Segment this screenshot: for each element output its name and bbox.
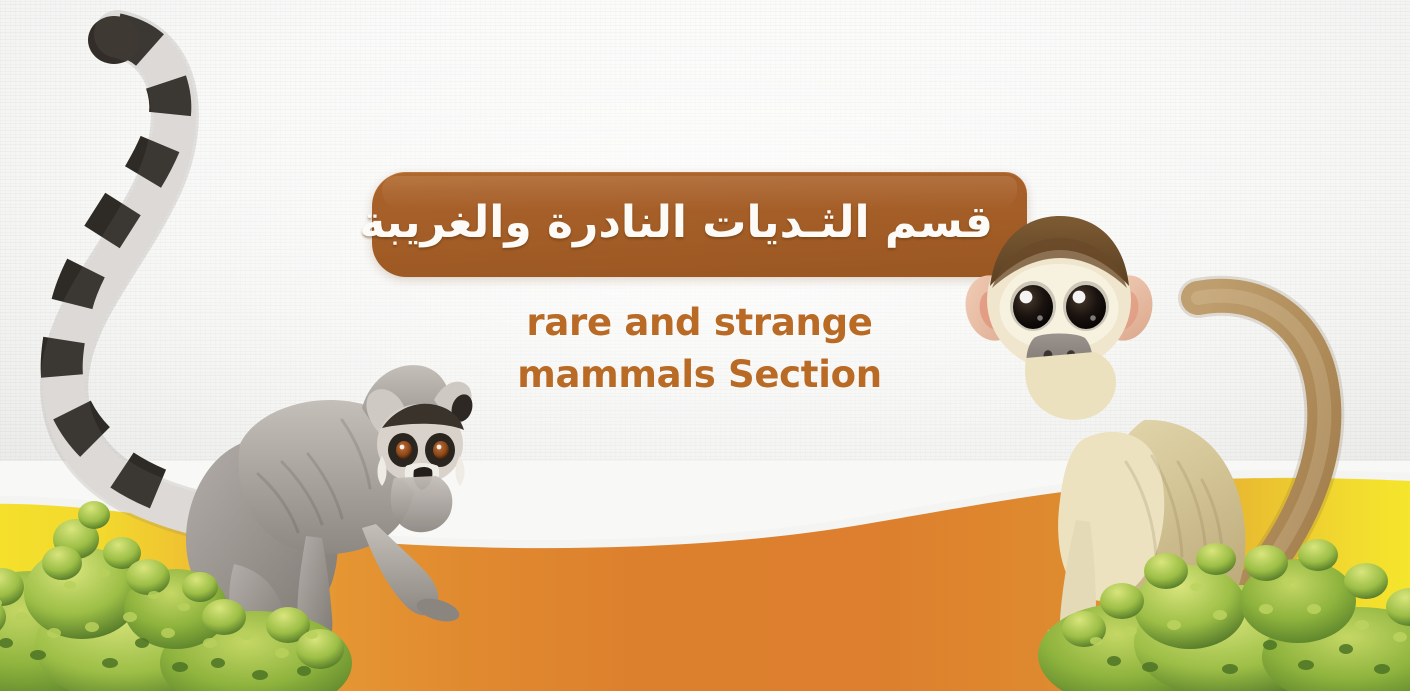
english-title: rare and strange mammals Section [372, 297, 1027, 401]
english-title-line-2: mammals Section [372, 349, 1027, 401]
english-title-line-1: rare and strange [372, 297, 1027, 349]
hero-banner: قسم الثـديات النادرة والغريبة rare and s… [0, 0, 1410, 691]
foliage-bush-left [0, 467, 350, 691]
foliage-bush-right [1070, 497, 1410, 691]
arabic-title: قسم الثـديات النادرة والغريبة [406, 188, 993, 258]
monkey-head [959, 216, 1159, 420]
arabic-title-plate: قسم الثـديات النادرة والغريبة [372, 172, 1027, 277]
